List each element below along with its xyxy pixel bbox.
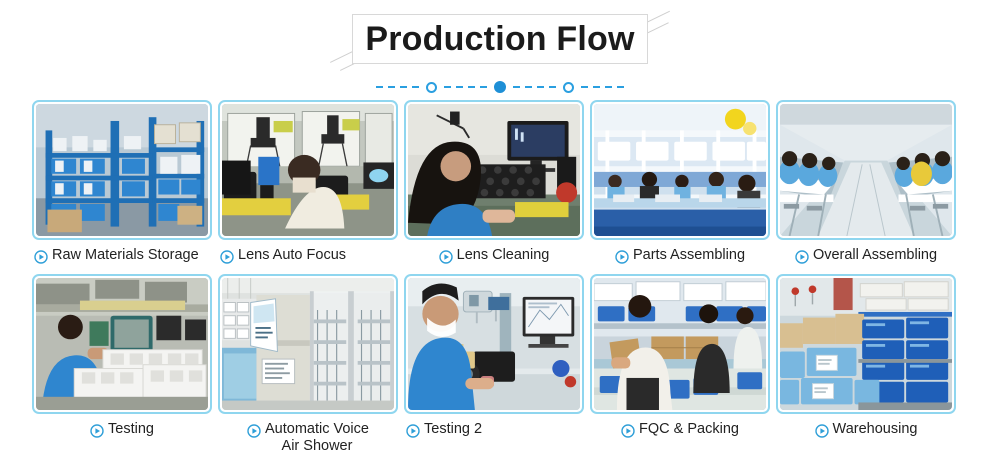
step-photo-warehouse-bins[interactable] xyxy=(776,274,956,414)
step-label: Testing xyxy=(108,421,154,438)
play-circle-icon xyxy=(621,424,635,443)
divider-dash xyxy=(444,86,451,88)
step-photo-testing-station-2[interactable] xyxy=(404,274,584,414)
step-photo-assembly-line[interactable] xyxy=(590,100,770,240)
step-label: Automatic Voice Air Shower xyxy=(265,421,369,454)
divider-dash xyxy=(593,86,600,88)
divider-dash xyxy=(400,86,407,88)
page-header: Production Flow xyxy=(0,0,1000,100)
divider-dash xyxy=(605,86,612,88)
play-circle-icon xyxy=(34,250,48,269)
step-card-overall-assembling[interactable]: Overall Assembling xyxy=(776,100,956,269)
divider-dash xyxy=(468,86,475,88)
step-photo-lens-cleaning-desk[interactable] xyxy=(404,100,584,240)
production-steps-grid: Raw Materials Storage xyxy=(0,100,1000,454)
page-title-frame: Production Flow xyxy=(352,14,648,64)
step-label: Lens Auto Focus xyxy=(238,247,346,264)
divider-dash xyxy=(581,86,588,88)
steps-row-1: Raw Materials Storage xyxy=(0,100,1000,269)
step-label: Testing 2 xyxy=(424,421,482,438)
play-circle-icon xyxy=(220,250,234,269)
divider-dash xyxy=(480,86,487,88)
step-card-warehousing[interactable]: Warehousing xyxy=(776,274,956,454)
divider-dashes-left xyxy=(376,86,419,88)
step-divider xyxy=(0,78,1000,96)
divider-dot-hollow-left xyxy=(426,82,437,93)
step-caption: Testing xyxy=(32,414,212,443)
step-label: Overall Assembling xyxy=(813,247,937,264)
divider-dashes-mid-left xyxy=(444,86,487,88)
step-caption: Testing 2 xyxy=(404,414,584,443)
play-circle-icon xyxy=(439,250,453,269)
step-caption: Automatic Voice Air Shower xyxy=(218,414,398,454)
divider-dash xyxy=(412,86,419,88)
step-card-testing[interactable]: Testing xyxy=(32,274,212,454)
play-circle-icon xyxy=(247,424,261,443)
step-caption: Overall Assembling xyxy=(776,240,956,269)
divider-dash xyxy=(456,86,463,88)
step-photo-testing-foam-trays[interactable] xyxy=(32,274,212,414)
divider-dash xyxy=(549,86,556,88)
step-card-testing-2[interactable]: Testing 2 xyxy=(404,274,584,454)
divider-dashes-mid-right xyxy=(513,86,556,88)
step-caption: Raw Materials Storage xyxy=(32,240,212,269)
step-card-lens-cleaning[interactable]: Lens Cleaning xyxy=(404,100,584,269)
step-card-parts-assembling[interactable]: Parts Assembling xyxy=(590,100,770,269)
step-caption: Lens Cleaning xyxy=(404,240,584,269)
divider-dash xyxy=(388,86,395,88)
step-label: Parts Assembling xyxy=(633,247,745,264)
divider-dash xyxy=(617,86,624,88)
step-photo-corridor-assembly[interactable] xyxy=(776,100,956,240)
page-title: Production Flow xyxy=(365,22,634,56)
step-card-fqc-packing[interactable]: FQC & Packing xyxy=(590,274,770,454)
play-circle-icon xyxy=(815,424,829,443)
play-circle-icon xyxy=(406,424,420,443)
step-photo-packing-boxes[interactable] xyxy=(590,274,770,414)
step-label: Warehousing xyxy=(833,421,918,438)
step-caption: Parts Assembling xyxy=(590,240,770,269)
play-circle-icon xyxy=(90,424,104,443)
step-photo-air-shower-room[interactable] xyxy=(218,274,398,414)
divider-dot-hollow-right xyxy=(563,82,574,93)
divider-dash xyxy=(525,86,532,88)
step-photo-auto-focus-station[interactable] xyxy=(218,100,398,240)
step-label: FQC & Packing xyxy=(639,421,739,438)
production-flow-page: Production Flow xyxy=(0,0,1000,469)
step-card-raw-materials-storage[interactable]: Raw Materials Storage xyxy=(32,100,212,269)
step-caption: Warehousing xyxy=(776,414,956,443)
divider-dash xyxy=(513,86,520,88)
play-circle-icon xyxy=(795,250,809,269)
step-caption: FQC & Packing xyxy=(590,414,770,443)
divider-dash xyxy=(376,86,383,88)
divider-dot-filled-center xyxy=(494,81,506,93)
step-photo-warehouse-racks[interactable] xyxy=(32,100,212,240)
divider-dash xyxy=(537,86,544,88)
step-card-lens-auto-focus[interactable]: Lens Auto Focus xyxy=(218,100,398,269)
step-label: Lens Cleaning xyxy=(457,247,550,264)
steps-row-2: Testing xyxy=(0,274,1000,454)
step-caption: Lens Auto Focus xyxy=(218,240,398,269)
step-card-automatic-voice-air-shower[interactable]: Automatic Voice Air Shower xyxy=(218,274,398,454)
play-circle-icon xyxy=(615,250,629,269)
divider-dashes-right xyxy=(581,86,624,88)
step-label: Raw Materials Storage xyxy=(52,247,199,264)
